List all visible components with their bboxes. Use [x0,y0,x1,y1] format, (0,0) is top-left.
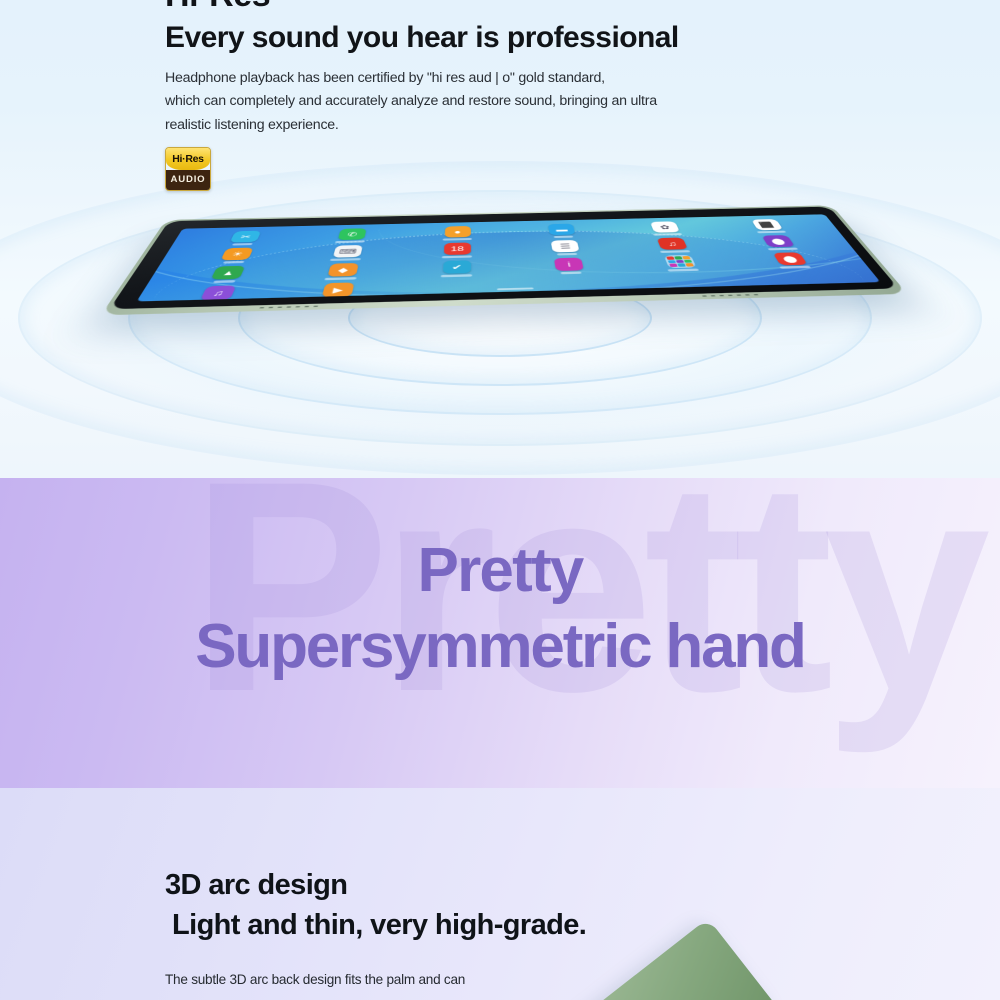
tablet-back-cover-image [558,918,782,1000]
info-app-icon[interactable]: i [554,258,584,271]
app-icon-cell[interactable]: ♫ [617,237,730,254]
hi-res-audio-badge-icon: Hi·Res AUDIO [165,147,211,191]
music-store-icon[interactable]: ♫ [657,238,688,250]
app-icon-label [232,243,253,245]
app-folder-icon[interactable] [664,255,697,268]
pretty-design-section: Pretty Pretty Supersymmetric hand [0,478,1000,788]
folder-mini-icon [682,256,690,259]
folder-mini-icon [677,263,685,266]
app-icon-cell[interactable]: ☀ [176,247,295,265]
section-kicker: Hi-Res [165,0,925,12]
pretty-headline-line-2: Supersymmetric hand [0,616,1000,678]
badge-bottom-label: AUDIO [171,175,206,185]
photos-app-icon[interactable]: ✿ [650,221,680,232]
badge-top-label: Hi·Res [172,154,203,165]
speaker-hole [702,295,707,297]
keyboard-app-icon[interactable]: ⌨ [333,245,363,258]
app-icon-cell[interactable]: ● [404,225,511,241]
audio-description-line-3: realistic listening experience. [165,114,795,137]
app-icon-label [213,280,236,283]
folder-mini-icon [668,260,676,263]
security-app-icon[interactable]: ✔ [443,260,471,274]
arc-heading-line-2: Light and thin, very high-grade. [172,911,586,940]
app-icon-cell[interactable]: ▲ [165,265,289,285]
music-app-icon[interactable]: ♫ [200,285,237,300]
folder-mini-icon [684,260,692,263]
app-icon-cell[interactable] [623,254,741,273]
speaker-hole [304,306,309,308]
audio-description-line-2: which can completely and accurately anal… [165,90,795,113]
market-app-icon[interactable]: ▲ [211,266,246,280]
app-icon-cell[interactable]: ▶ [275,281,399,301]
arc-design-section: 3D arc design Light and thin, very high-… [0,788,1000,1000]
tablet-body: ✂✆●▬✿⬛☀⌨18☰♫⬤▲◆✔i⬤♫▶ [101,205,908,315]
app-icon-label [443,238,472,241]
tablet-3d: ✂✆●▬✿⬛☀⌨18☰♫⬤▲◆✔i⬤♫▶ [101,205,908,315]
audio-description-line-1: Headphone playback has been certified by… [165,67,795,90]
folder-mini-icon [685,263,694,266]
app-icon-cell[interactable]: ⬤ [722,234,837,251]
app-icon-label [330,258,361,261]
app-icon-cell[interactable]: ⬛ [713,218,824,234]
app-icon-cell[interactable]: ✂ [187,230,301,247]
folder-mini-icon [674,256,682,259]
app-icon-cell[interactable]: ✔ [399,259,514,278]
speaker-hole [313,305,318,307]
folder-mini-icon [676,260,684,263]
audio-heading-block: Hi-Res Every sound you hear is professio… [165,0,925,57]
messages-app-icon[interactable]: ▬ [548,224,576,236]
phone-app-icon[interactable]: ✆ [338,228,367,240]
calendar-app-icon[interactable]: 18 [444,242,471,255]
speaker-hole [745,294,750,296]
app-icon-label [553,236,573,238]
app-icon-label [660,250,690,253]
app-icon-label [319,298,353,301]
pretty-headline-line-1: Pretty [0,540,1000,602]
app-icon-label [557,253,577,256]
folder-mini-icon [666,256,674,259]
pretty-watermark-text: Pretty [190,478,980,736]
home-screen-app-grid: ✂✆●▬✿⬛☀⌨18☰♫⬤▲◆✔i⬤♫▶ [152,218,867,301]
app-icon-label [335,240,365,243]
tablet-device-image: ✂✆●▬✿⬛☀⌨18☰♫⬤▲◆✔i⬤♫▶ [143,168,873,340]
arc-description-line-1: The subtle 3D arc back design fits the p… [165,969,585,991]
tablet-bezel: ✂✆●▬✿⬛☀⌨18☰♫⬤▲◆✔i⬤♫▶ [109,207,898,310]
notes-app-icon[interactable]: ☰ [551,240,580,252]
speaker-hole [736,294,741,296]
home-indicator [497,287,534,290]
app-icon-cell[interactable]: ⌨ [290,244,404,262]
app-icon-label [668,269,700,272]
app-icon-cell[interactable]: ✿ [612,220,721,236]
app-icon-label [768,248,799,251]
app-icon-label [441,274,472,277]
app-icon-label [779,266,811,269]
speaker-hole [259,307,264,309]
speaker-hole [728,294,733,296]
speaker-grille-left [259,305,318,308]
app-icon-cell[interactable]: i [512,257,627,276]
app-icon-cell[interactable]: ◆ [282,262,401,281]
arc-description: The subtle 3D arc back design fits the p… [165,969,585,991]
hires-audio-section: Hi-Res Every sound you hear is professio… [0,0,1000,478]
player-app-icon[interactable]: ▶ [322,282,355,297]
speaker-hole [286,306,291,308]
app-icon-label [653,233,682,236]
product-detail-page: Hi-Res Every sound you hear is professio… [0,0,1000,1000]
games-app-icon[interactable]: ◆ [327,263,358,277]
speaker-hole [295,306,300,308]
app-icon-cell[interactable]: ☰ [511,239,622,257]
app-icon-cell[interactable]: ✆ [296,227,406,244]
folder-mini-icon [669,264,677,267]
section-heading: Every sound you hear is professional [165,20,925,57]
tablet-screen: ✂✆●▬✿⬛☀⌨18☰♫⬤▲◆✔i⬤♫▶ [137,214,881,301]
app-icon-label [223,261,245,264]
app-icon-cell[interactable]: ▬ [509,223,616,239]
app-icon-label [442,255,472,258]
gallery-app-icon[interactable]: ⬛ [751,219,783,230]
badge-top: Hi·Res [166,148,210,170]
speaker-hole [719,295,724,297]
app-icon-cell[interactable]: 18 [402,242,513,260]
badge-bottom: AUDIO [166,170,210,190]
video-app-icon[interactable]: ✂ [230,231,262,243]
app-icon-cell[interactable]: ⬤ [732,251,852,269]
camera-app-icon[interactable]: ⬤ [772,252,807,265]
app-icon-cell[interactable]: ♫ [152,284,281,301]
speaker-hole [753,294,758,296]
speaker-hole [268,306,273,308]
app-icon-label [757,231,786,234]
speaker-grille-right [702,294,759,297]
arc-heading-line-1: 3D arc design [165,871,347,900]
app-icon-label [325,277,357,280]
browser-app-icon[interactable]: ⬤ [761,235,795,247]
speaker-hole [277,306,282,308]
contacts-app-icon[interactable]: ● [444,226,470,238]
app-icon-label [560,271,581,274]
audio-description: Headphone playback has been certified by… [165,67,795,137]
speaker-hole [710,295,715,297]
weather-app-icon[interactable]: ☀ [221,248,254,261]
